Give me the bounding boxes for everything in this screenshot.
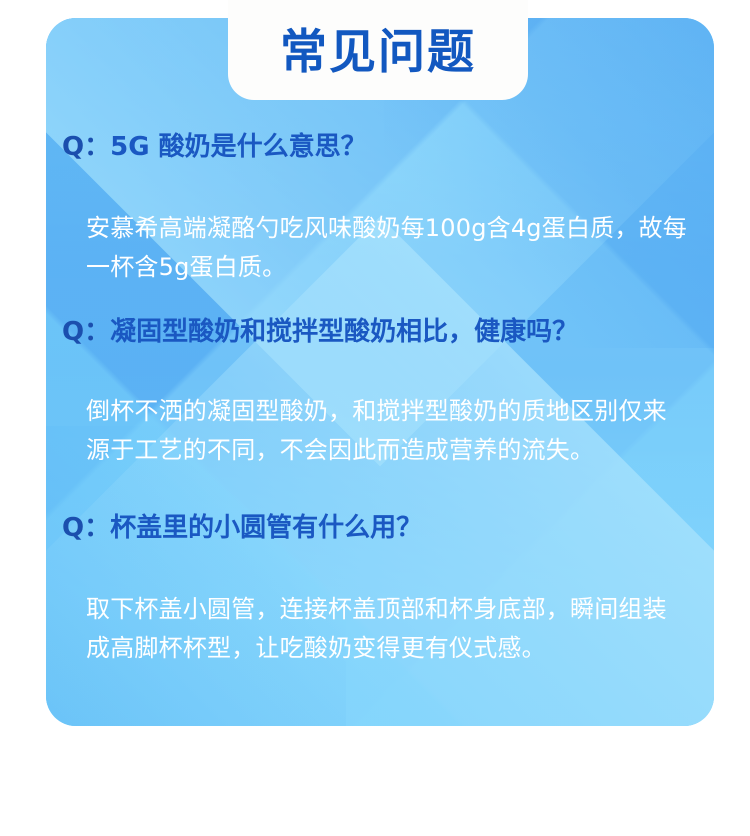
question-text-3: 杯盖里的小圆管有什么用？: [110, 513, 422, 543]
page-title: 常见问题: [280, 21, 476, 76]
faq-page: 常见问题 Q：5G 酸奶是什么意思？ 安慕希高端凝酪勺吃风味酸奶每100g含4g…: [0, 0, 750, 836]
faq-item-2: Q：凝固型酸奶和搅拌型酸奶相比，健康吗？ 倒杯不洒的凝固型酸奶，和搅拌型酸奶的质…: [0, 317, 750, 470]
question-text-2: 凝固型酸奶和搅拌型酸奶相比，健康吗？: [110, 317, 578, 347]
question-label-2: Q：: [62, 317, 110, 347]
faq-item-3: Q：杯盖里的小圆管有什么用？ 取下杯盖小圆管，连接杯盖顶部和杯身底部，瞬间组装成…: [0, 513, 750, 668]
faq-question-1: Q：5G 酸奶是什么意思？: [62, 132, 750, 163]
faq-item-1: Q：5G 酸奶是什么意思？ 安慕希高端凝酪勺吃风味酸奶每100g含4g蛋白质，故…: [0, 132, 750, 287]
question-label-1: Q：: [62, 132, 110, 162]
faq-question-2: Q：凝固型酸奶和搅拌型酸奶相比，健康吗？: [62, 317, 750, 348]
faq-answer-2: 倒杯不洒的凝固型酸奶，和搅拌型酸奶的质地区别仅来源于工艺的不同，不会因此而造成营…: [86, 392, 690, 470]
faq-answer-1: 安慕希高端凝酪勺吃风味酸奶每100g含4g蛋白质，故每一杯含5g蛋白质。: [86, 209, 690, 287]
faq-question-3: Q：杯盖里的小圆管有什么用？: [62, 513, 750, 544]
title-badge: 常见问题: [228, 0, 528, 100]
faq-answer-3: 取下杯盖小圆管，连接杯盖顶部和杯身底部，瞬间组装成高脚杯杯型，让吃酸奶变得更有仪…: [86, 590, 690, 668]
question-text-1: 5G 酸奶是什么意思？: [110, 132, 366, 162]
question-label-3: Q：: [62, 513, 110, 543]
